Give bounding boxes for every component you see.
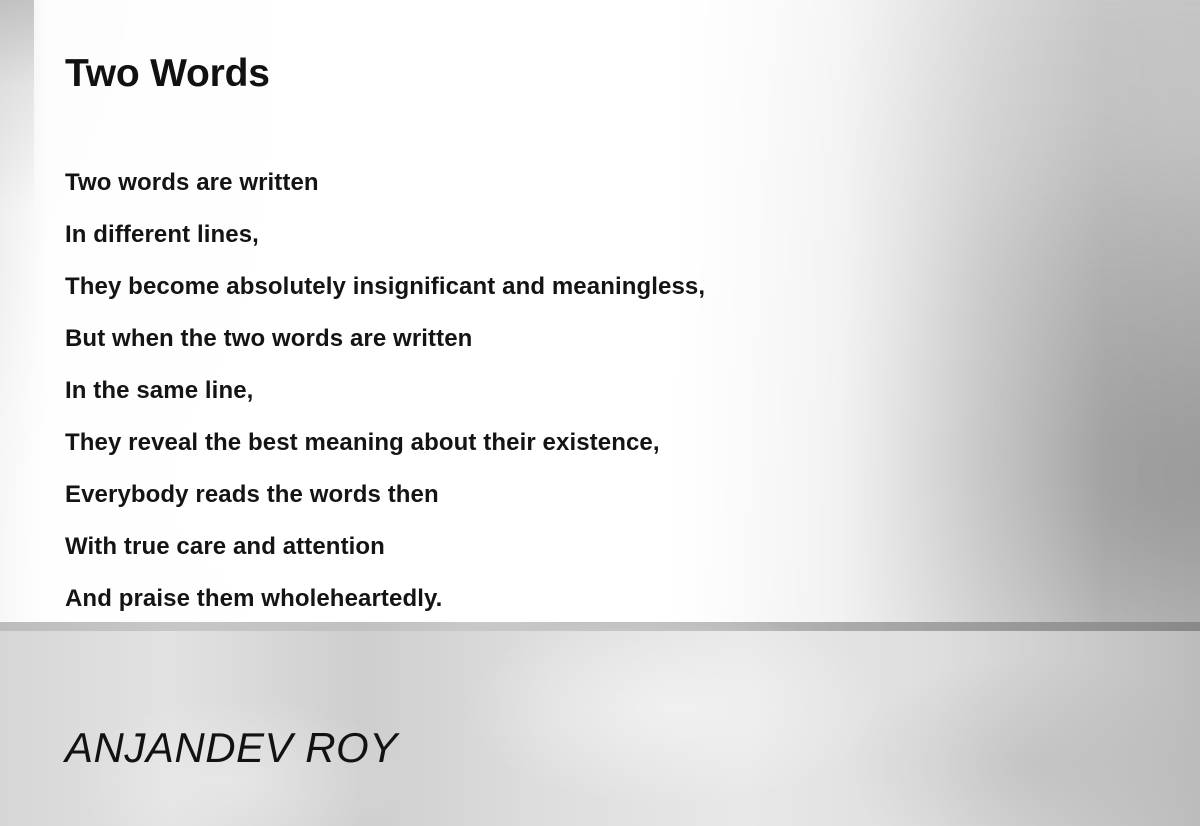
page-title: Two Words xyxy=(65,52,270,96)
poem-card: Two Words Two words are written In diffe… xyxy=(0,0,1200,826)
poem-line: With true care and attention xyxy=(65,521,1085,573)
poem-line: And praise them wholeheartedly. xyxy=(65,573,1085,625)
poem-line: Two words are written xyxy=(65,157,1085,209)
poem-line: But when the two words are written xyxy=(65,313,1085,365)
poem-body: Two words are written In different lines… xyxy=(65,157,1085,625)
author-name: ANJANDEV ROY xyxy=(65,724,398,772)
poem-line: Everybody reads the words then xyxy=(65,469,1085,521)
poem-line: In the same line, xyxy=(65,365,1085,417)
poem-line: In different lines, xyxy=(65,209,1085,261)
poem-line: They reveal the best meaning about their… xyxy=(65,417,1085,469)
poem-line: They become absolutely insignificant and… xyxy=(65,261,1085,313)
card-content: Two Words Two words are written In diffe… xyxy=(0,0,1200,826)
